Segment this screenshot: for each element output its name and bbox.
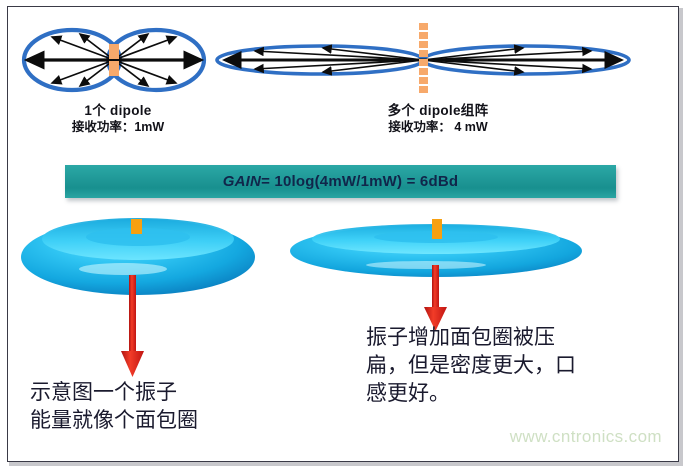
dipole-cell [109,61,119,76]
dipole-cell [419,77,428,84]
dipole-cell [419,32,428,39]
right-caption-line-3: 感更好。 [366,379,576,407]
left-torus-dipole-element [131,219,142,234]
gain-formula-text: GAIN= 10log(4mW/1mW) = 6dBd [223,173,458,190]
dipole-array-caption: 多个 dipole组阵 接收功率： 4 mW [338,103,538,136]
left-torus-figure [11,197,266,307]
dipole-cell [419,86,428,93]
gain-formula-banner: GAIN= 10log(4mW/1mW) = 6dBd [65,165,616,198]
diagram-canvas: 1个 dipole 接收功率：1mW [0,0,689,473]
dipole-array-power: 接收功率： 4 mW [338,120,538,136]
dipole-cell [419,68,428,75]
single-dipole-label: 1个 dipole [28,103,208,120]
right-caption-line-1: 振子增加面包圈被压 [366,323,576,351]
dipole-cell [419,23,428,30]
left-caption-line-1: 示意图一个振子 [30,378,198,406]
dipole-array-pattern [213,33,633,87]
dipole-cell [109,44,119,59]
single-dipole-element [109,44,119,77]
site-watermark: www.cntronics.com [510,427,662,447]
dipole-cell [419,41,428,48]
gain-expression: = 10log(4mW/1mW) = 6dBd [261,173,458,190]
right-torus-caption: 振子增加面包圈被压 扁，但是密度更大，口 感更好。 [366,323,576,407]
dipole-array-element-stack [419,23,428,99]
left-red-arrow [99,275,169,380]
gain-keyword: GAIN [223,173,261,190]
diagram-frame: 1个 dipole 接收功率：1mW [7,6,679,462]
single-dipole-caption: 1个 dipole 接收功率：1mW [28,103,208,136]
right-torus-figure [286,203,586,313]
right-torus-dipole-element [432,219,442,239]
dipole-cell [419,59,428,66]
left-caption-line-2: 能量就像个面包圈 [30,406,198,434]
right-caption-line-2: 扁，但是密度更大，口 [366,351,576,379]
left-torus-caption: 示意图一个振子 能量就像个面包圈 [30,378,198,434]
torus-highlight [79,263,167,275]
single-dipole-pattern [14,21,214,99]
single-dipole-power: 接收功率：1mW [28,120,208,136]
dipole-cell [419,50,428,57]
dipole-array-label: 多个 dipole组阵 [338,103,538,120]
